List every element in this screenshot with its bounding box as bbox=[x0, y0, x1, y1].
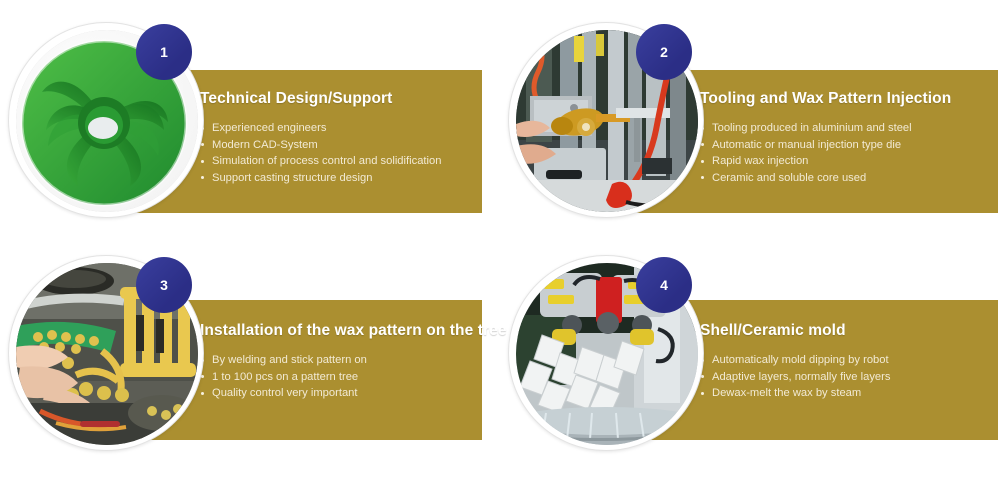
list-item: Ceramic and soluble core used bbox=[700, 170, 988, 187]
step-4-title: Shell/Ceramic mold bbox=[700, 322, 988, 340]
list-item: Experienced engineers bbox=[200, 120, 472, 137]
step-2-title: Tooling and Wax Pattern Injection bbox=[700, 90, 988, 108]
step-4-bullet-list: Automatically mold dipping by robot Adap… bbox=[700, 352, 988, 402]
step-3-number: 3 bbox=[160, 277, 168, 293]
list-item: Tooling produced in aluminium and steel bbox=[700, 120, 988, 137]
step-card-1: Technical Design/Support Experienced eng… bbox=[0, 0, 500, 243]
step-4-number-badge: 4 bbox=[636, 257, 692, 313]
list-item: Automatic or manual injection type die bbox=[700, 137, 988, 154]
step-1-number-badge: 1 bbox=[136, 24, 192, 80]
step-2-number: 2 bbox=[660, 44, 668, 60]
list-item: Dewax-melt the wax by steam bbox=[700, 385, 988, 402]
list-item: Simulation of process control and solidi… bbox=[200, 153, 472, 170]
list-item: Rapid wax injection bbox=[700, 153, 988, 170]
step-1-title: Technical Design/Support bbox=[200, 90, 472, 108]
step-1-number: 1 bbox=[160, 44, 168, 60]
step-3-title: Installation of the wax pattern on the t… bbox=[200, 322, 472, 340]
step-1-bullet-list: Experienced engineers Modern CAD-System … bbox=[200, 120, 472, 186]
list-item: By welding and stick pattern on bbox=[200, 352, 472, 369]
list-item: Adaptive layers, normally five layers bbox=[700, 369, 988, 386]
step-card-3: Installation of the wax pattern on the t… bbox=[0, 243, 500, 486]
list-item: Quality control very important bbox=[200, 385, 472, 402]
step-4-text-block: Shell/Ceramic mold Automatically mold di… bbox=[700, 322, 988, 402]
list-item: Support casting structure design bbox=[200, 170, 472, 187]
step-2-bullet-list: Tooling produced in aluminium and steel … bbox=[700, 120, 988, 186]
step-1-text-block: Technical Design/Support Experienced eng… bbox=[200, 90, 472, 186]
step-3-bullet-list: By welding and stick pattern on 1 to 100… bbox=[200, 352, 472, 402]
list-item: Modern CAD-System bbox=[200, 137, 472, 154]
step-card-4: Shell/Ceramic mold Automatically mold di… bbox=[500, 243, 1000, 486]
list-item: 1 to 100 pcs on a pattern tree bbox=[200, 369, 472, 386]
step-3-text-block: Installation of the wax pattern on the t… bbox=[200, 322, 472, 402]
process-steps-board: Technical Design/Support Experienced eng… bbox=[0, 0, 1000, 486]
step-3-number-badge: 3 bbox=[136, 257, 192, 313]
list-item: Automatically mold dipping by robot bbox=[700, 352, 988, 369]
step-4-number: 4 bbox=[660, 277, 668, 293]
step-2-number-badge: 2 bbox=[636, 24, 692, 80]
step-2-text-block: Tooling and Wax Pattern Injection Toolin… bbox=[700, 90, 988, 186]
step-card-2: Tooling and Wax Pattern Injection Toolin… bbox=[500, 0, 1000, 243]
